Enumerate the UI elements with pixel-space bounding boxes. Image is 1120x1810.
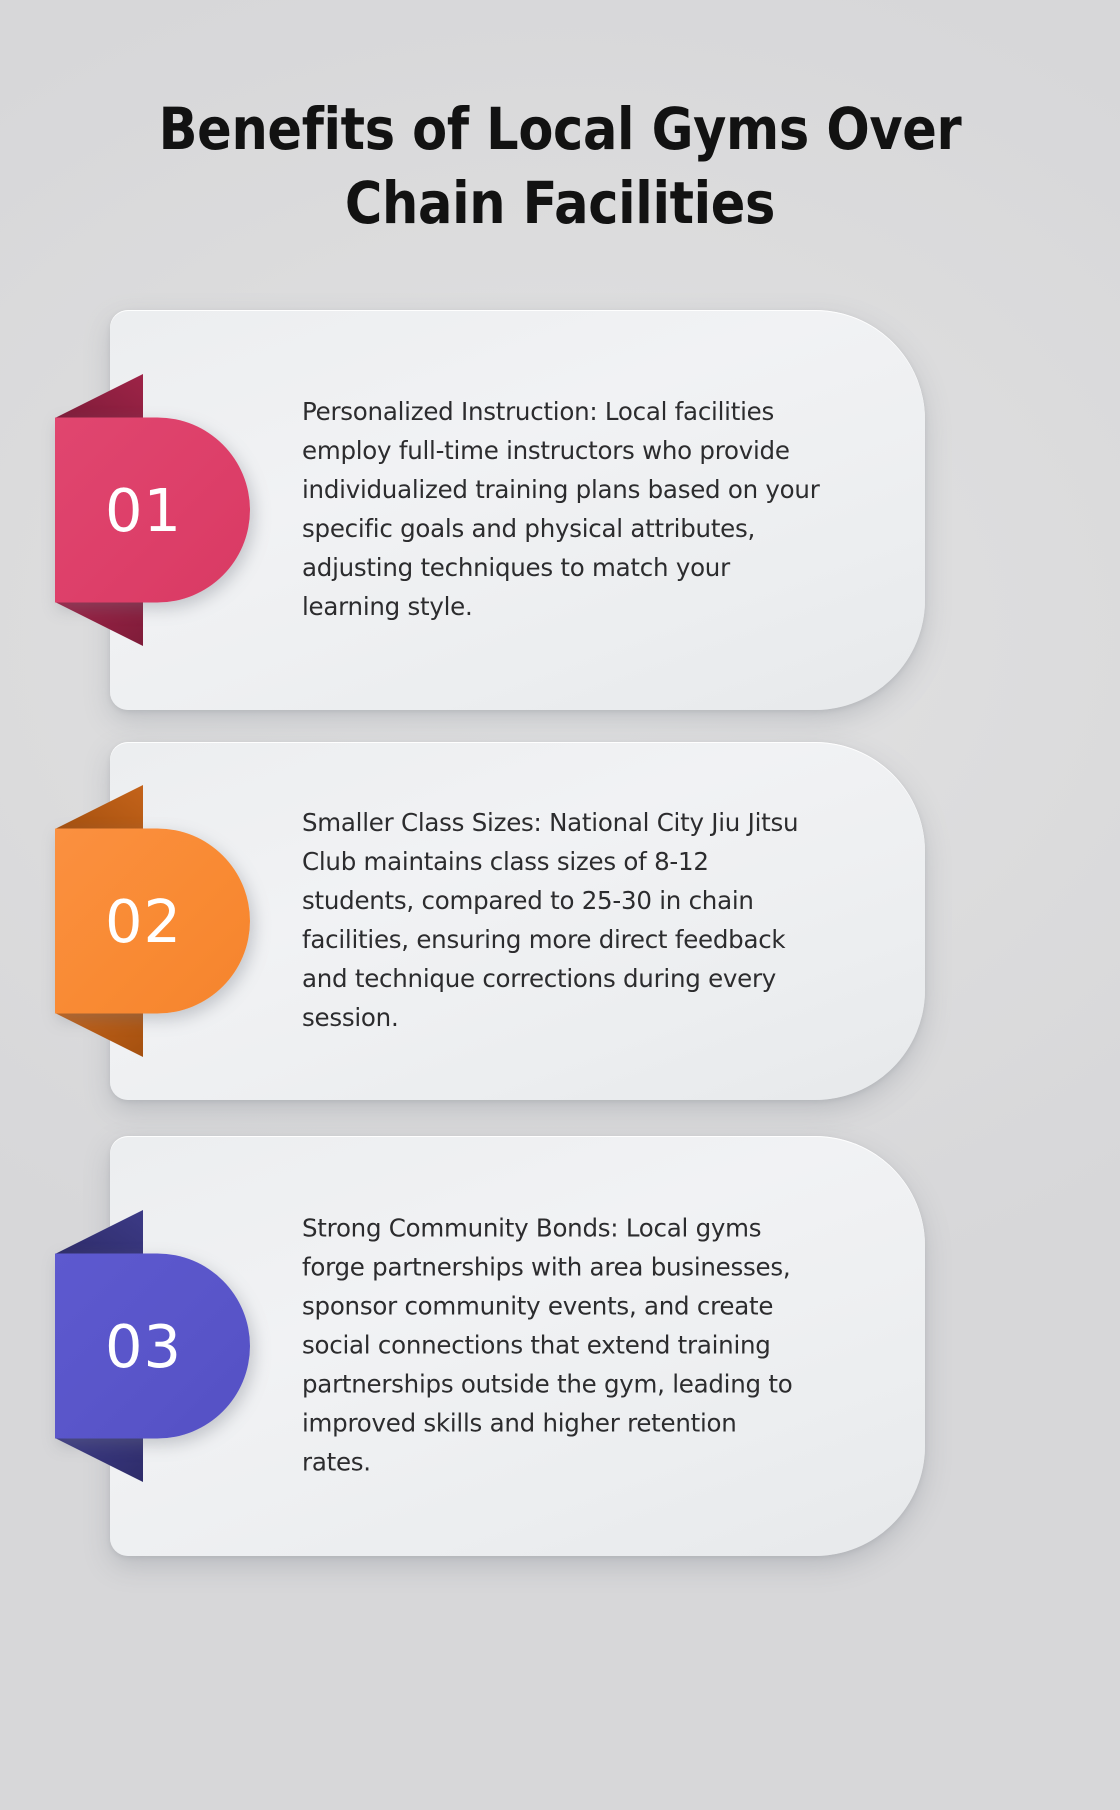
ribbon-fold-top-icon [55, 374, 143, 418]
ribbon-fold-top-icon [55, 1210, 143, 1254]
ribbon-fold-bottom-icon [55, 602, 143, 646]
item-number-badge: 03 [55, 1254, 250, 1439]
page-title: Benefits of Local Gyms Over Chain Facili… [146, 92, 973, 240]
item-number-badge: 02 [55, 829, 250, 1014]
item-badge-group: 02 [0, 742, 260, 1100]
item-badge-group: 01 [0, 310, 260, 710]
item-number-label: 03 [55, 1317, 250, 1376]
item-number-label: 02 [55, 892, 250, 951]
ribbon-fold-bottom-icon [55, 1013, 143, 1057]
item-description: Smaller Class Sizes: National City Jiu J… [302, 804, 807, 1038]
item-description: Strong Community Bonds: Local gyms forge… [302, 1210, 810, 1483]
ribbon-fold-top-icon [55, 785, 143, 829]
list-item: Personalized Instruction: Local faciliti… [0, 310, 1120, 710]
infographic-canvas: Benefits of Local Gyms Over Chain Facili… [0, 0, 1120, 1810]
item-badge-group: 03 [0, 1136, 260, 1556]
list-item: Smaller Class Sizes: National City Jiu J… [0, 742, 1120, 1100]
ribbon-fold-bottom-icon [55, 1438, 143, 1482]
item-description: Personalized Instruction: Local faciliti… [302, 393, 822, 627]
item-number-badge: 01 [55, 418, 250, 603]
list-item: Strong Community Bonds: Local gyms forge… [0, 1136, 1120, 1556]
item-number-label: 01 [55, 481, 250, 540]
